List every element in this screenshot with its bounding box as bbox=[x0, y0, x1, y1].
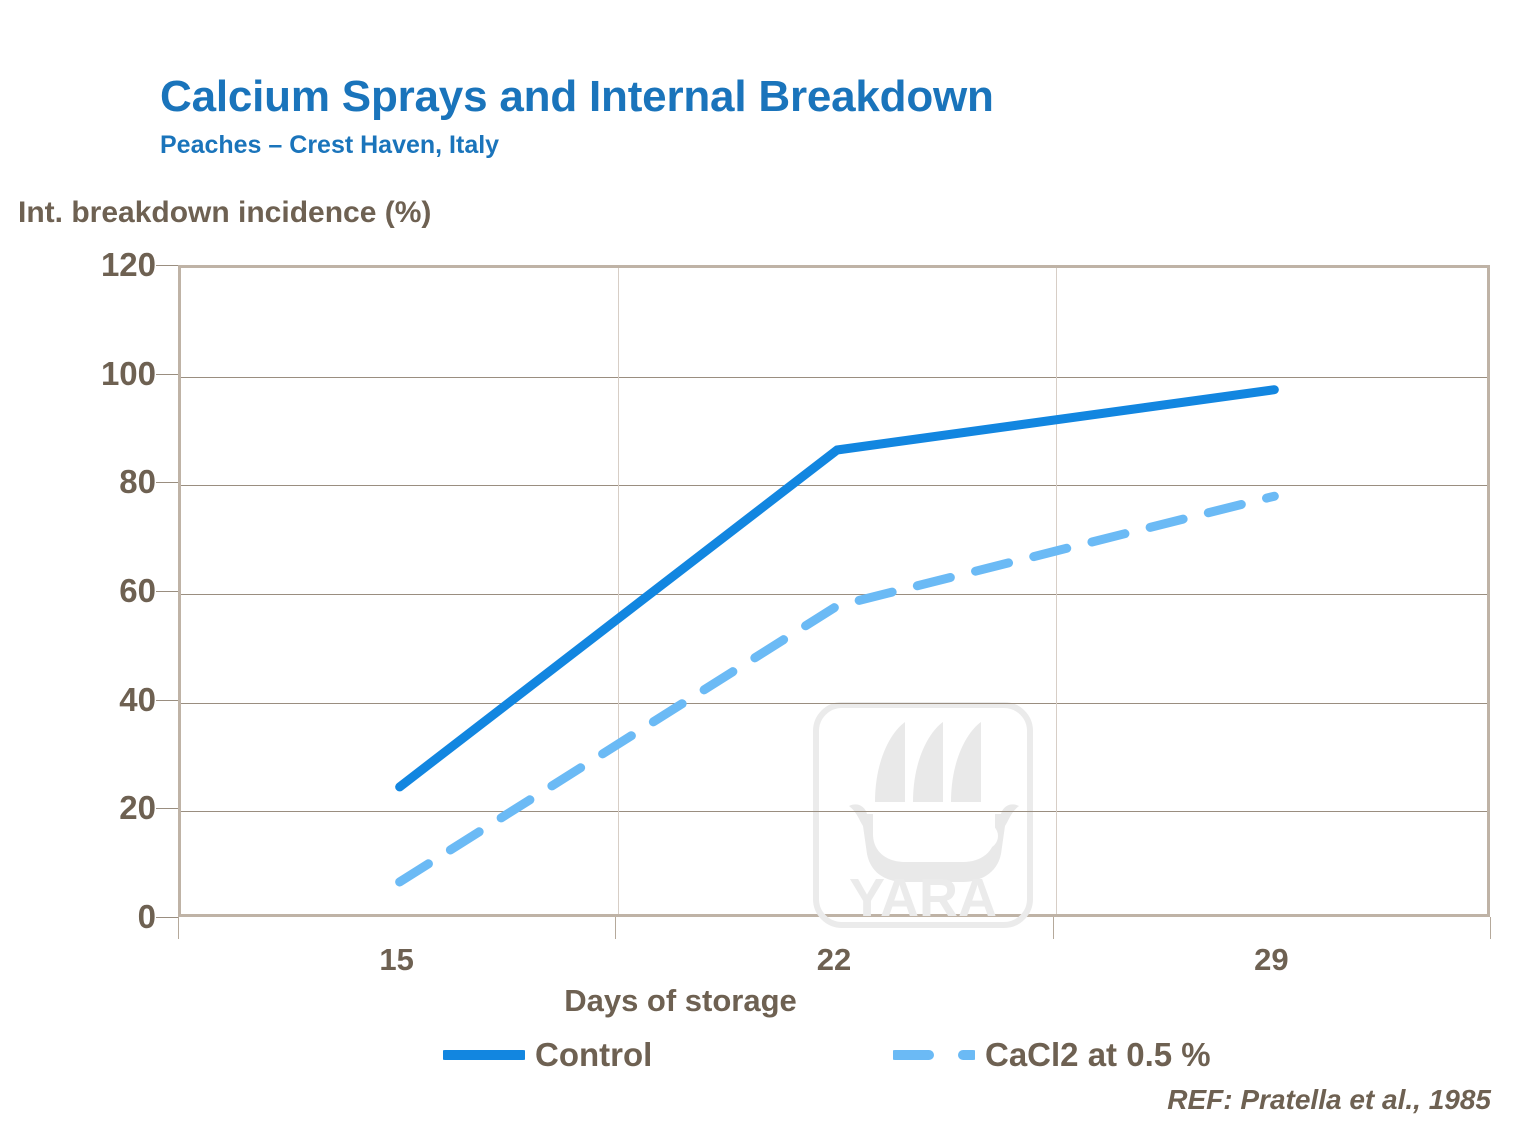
legend-swatch-cacl2 bbox=[893, 1043, 975, 1067]
y-tick-label-20: 20 bbox=[119, 789, 156, 827]
x-axis-tick-labels: 152229 bbox=[0, 942, 1519, 986]
y-axis-title: Int. breakdown incidence (%) bbox=[18, 196, 431, 230]
y-tick-label-60: 60 bbox=[119, 572, 156, 610]
x-axis-title: Days of storage bbox=[0, 983, 1519, 1019]
x-axis-title-text: Days of storage bbox=[564, 983, 797, 1019]
y-tick-mark-80 bbox=[156, 482, 178, 483]
y-tick-label-0: 0 bbox=[138, 898, 156, 936]
y-tick-mark-0 bbox=[156, 917, 178, 918]
y-tick-mark-120 bbox=[156, 265, 178, 266]
x-tick-label-22: 22 bbox=[817, 942, 851, 978]
legend-label-cacl2: CaCl2 at 0.5 % bbox=[985, 1036, 1211, 1074]
chart-legend: ControlCaCl2 at 0.5 % bbox=[0, 1036, 1519, 1082]
x-tick-mark-0 bbox=[178, 917, 179, 939]
reference-note: REF: Pratella et al., 1985 bbox=[1167, 1084, 1491, 1116]
page-subtitle: Peaches – Crest Haven, Italy bbox=[160, 131, 499, 160]
y-tick-label-40: 40 bbox=[119, 681, 156, 719]
legend-label-control: Control bbox=[535, 1036, 652, 1074]
x-tick-mark-2 bbox=[1053, 917, 1054, 939]
y-tick-mark-20 bbox=[156, 808, 178, 809]
y-tick-mark-60 bbox=[156, 591, 178, 592]
y-tick-mark-100 bbox=[156, 374, 178, 375]
y-tick-mark-40 bbox=[156, 700, 178, 701]
x-tick-label-15: 15 bbox=[379, 942, 413, 978]
legend-item-cacl2[interactable]: CaCl2 at 0.5 % bbox=[893, 1036, 1211, 1074]
x-tick-mark-3 bbox=[1490, 917, 1491, 939]
page-title: Calcium Sprays and Internal Breakdown bbox=[160, 72, 994, 122]
y-tick-label-100: 100 bbox=[101, 355, 156, 393]
y-tick-label-80: 80 bbox=[119, 463, 156, 501]
legend-item-control[interactable]: Control bbox=[443, 1036, 652, 1074]
plot-area: YARA bbox=[178, 265, 1490, 917]
x-tick-label-29: 29 bbox=[1254, 942, 1288, 978]
y-axis-tick-labels: 020406080100120 bbox=[60, 265, 156, 917]
legend-swatch-control bbox=[443, 1043, 525, 1067]
x-tick-mark-1 bbox=[615, 917, 616, 939]
slide-root: Calcium Sprays and Internal Breakdown Pe… bbox=[0, 0, 1519, 1125]
series-layer bbox=[181, 268, 1493, 920]
series-line-control bbox=[400, 390, 1275, 787]
y-tick-label-120: 120 bbox=[101, 246, 156, 284]
